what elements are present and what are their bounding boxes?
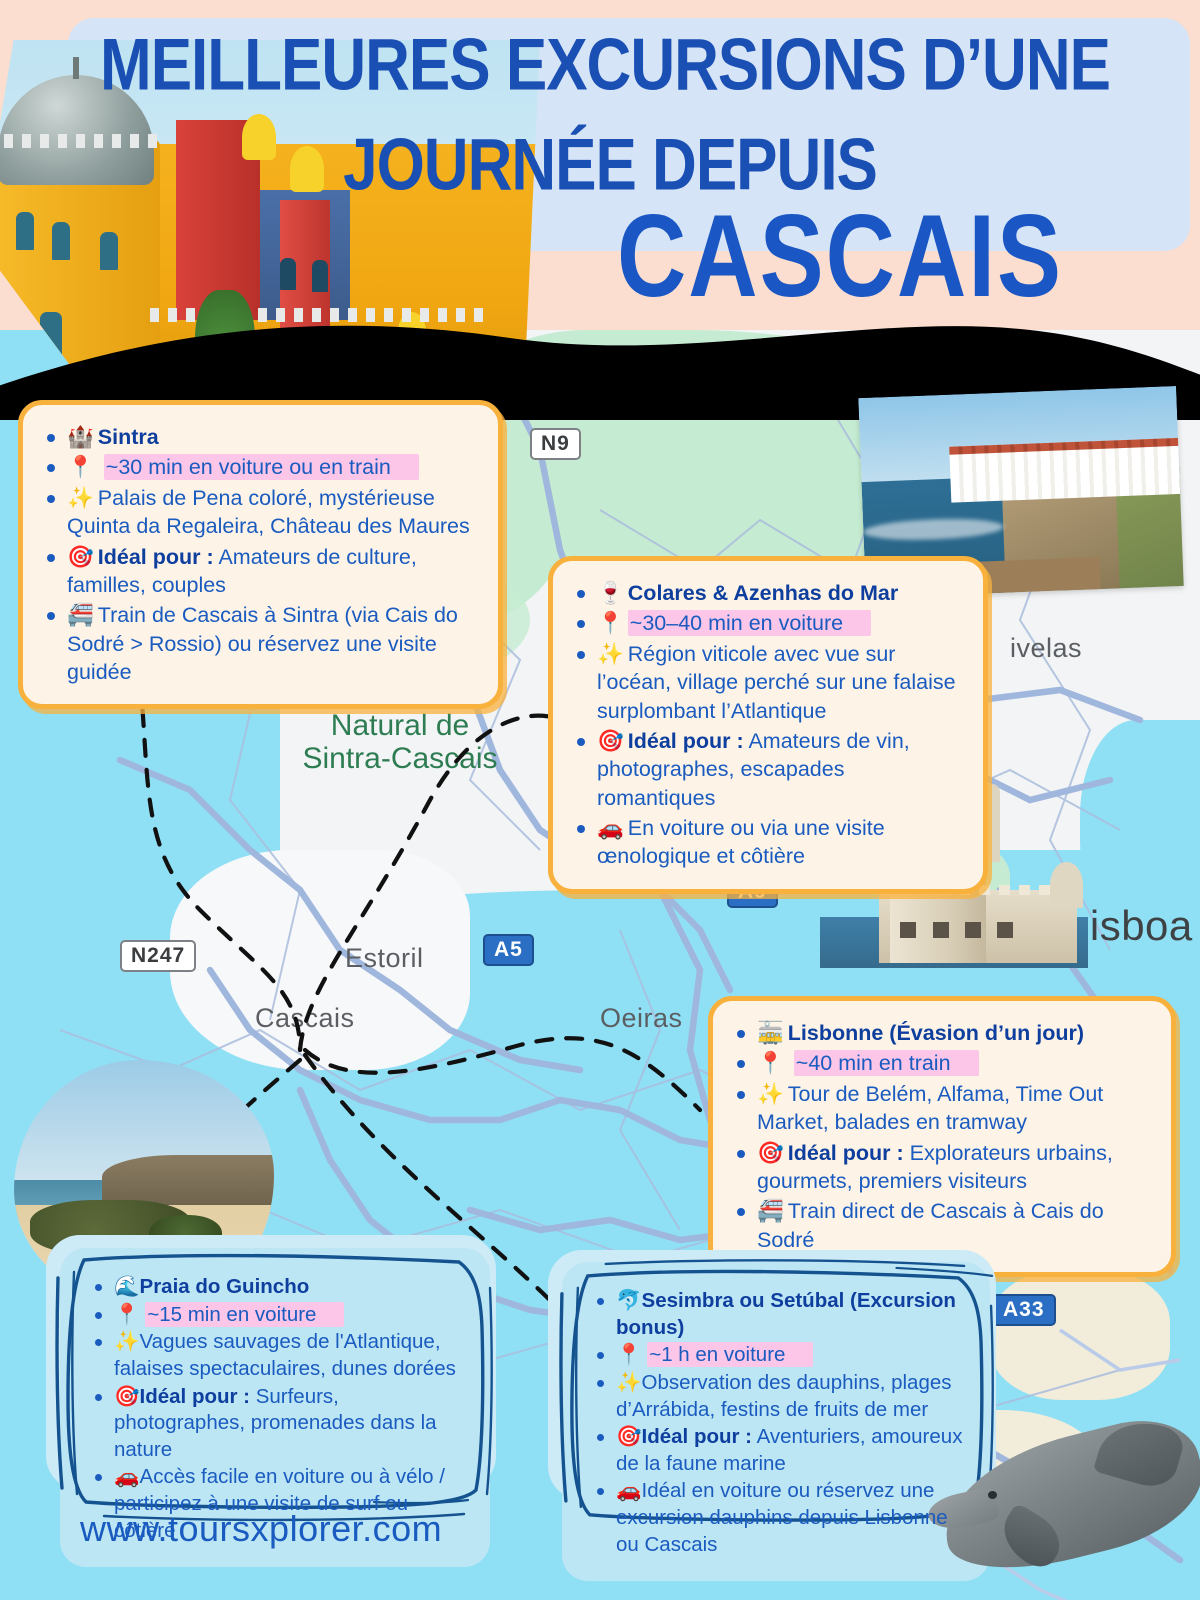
pin-icon: 📍 <box>114 1303 140 1326</box>
car-icon: 🚗 <box>114 1465 140 1488</box>
sparkles-icon: ✨ <box>616 1371 642 1394</box>
car-icon: 🚗 <box>597 816 624 840</box>
car-icon: 🚗 <box>616 1479 642 1502</box>
list-item: 🏰Sintra <box>37 423 478 451</box>
road-shield-n9: N9 <box>530 428 581 460</box>
card-sintra[interactable]: 🏰Sintra 📍 ~30 min en voiture ou en train… <box>18 400 503 709</box>
list-item: 📍 ~40 min en train <box>727 1049 1151 1077</box>
list-item: 📍 ~1 h en voiture <box>588 1342 968 1369</box>
wave-icon: 🌊 <box>114 1275 140 1298</box>
list-item: 🎯Idéal pour : Aventuriers, amoureux de l… <box>588 1424 968 1477</box>
infographic-poster: ParqueNatural deSintra-Cascais Estoril C… <box>0 0 1200 1600</box>
card-lisbonne[interactable]: 🚋Lisbonne (Évasion d’un jour) 📍 ~40 min … <box>708 996 1176 1277</box>
card-colares-azenhas[interactable]: 🍷Colares & Azenhas do Mar 📍~30–40 min en… <box>548 556 988 894</box>
wine-glass-icon: 🍷 <box>597 581 624 605</box>
poster-header: MEILLEURES EXCURSIONS D’UNE JOURNÉE DEPU… <box>0 0 1200 400</box>
card-sintra-list: 🏰Sintra 📍 ~30 min en voiture ou en train… <box>37 423 478 686</box>
list-item: 🎯Idéal pour : Explorateurs urbains, gour… <box>727 1139 1151 1196</box>
list-item: 🌊Praia do Guincho <box>86 1274 468 1301</box>
road-shield-n247: N247 <box>120 940 196 972</box>
map-label-cascais: Cascais <box>255 1003 355 1034</box>
sparkles-icon: ✨ <box>757 1082 784 1106</box>
page-title-line-1: MEILLEURES EXCURSIONS D’UNE <box>60 24 1150 108</box>
list-item: 🚝Train de Cascais à Sintra (via Cais do … <box>37 601 478 686</box>
castle-icon: 🏰 <box>67 425 94 449</box>
list-item: ✨Palais de Pena coloré, mystérieuse Quin… <box>37 484 478 541</box>
list-item: ✨Région viticole avec vue sur l’océan, v… <box>567 640 963 725</box>
list-item: 🍷Colares & Azenhas do Mar <box>567 579 963 607</box>
train-icon: 🚝 <box>67 603 94 627</box>
card-sesimbra[interactable]: 🐬Sesimbra ou Setúbal (Excursion bonus) 📍… <box>562 1262 990 1581</box>
card-colares-list: 🍷Colares & Azenhas do Mar 📍~30–40 min en… <box>567 579 963 871</box>
pin-icon: 📍 <box>616 1343 642 1366</box>
map-label-ivelas: ivelas <box>1010 633 1082 664</box>
target-icon: 🎯 <box>616 1425 642 1448</box>
list-item: 🐬Sesimbra ou Setúbal (Excursion bonus) <box>588 1288 968 1341</box>
road-shield-a5: A5 <box>483 934 534 966</box>
target-icon: 🎯 <box>67 545 94 569</box>
list-item: 🚋Lisbonne (Évasion d’un jour) <box>727 1019 1151 1047</box>
list-item: 📍~30–40 min en voiture <box>567 609 963 637</box>
pin-icon: 📍 <box>597 611 624 635</box>
pin-icon: 📍 <box>67 455 94 479</box>
list-item: 🎯Idéal pour : Amateurs de vin, photograp… <box>567 727 963 812</box>
list-item: 📍 ~15 min en voiture <box>86 1302 468 1329</box>
list-item: 🚗En voiture ou via une visite œnologique… <box>567 814 963 871</box>
target-icon: 🎯 <box>597 729 624 753</box>
card-lisbonne-list: 🚋Lisbonne (Évasion d’un jour) 📍 ~40 min … <box>727 1019 1151 1254</box>
list-item: 🚝Train direct de Cascais à Cais do Sodré <box>727 1197 1151 1254</box>
dolphin-icon: 🐬 <box>616 1289 642 1312</box>
card-guincho-list: 🌊Praia do Guincho 📍 ~15 min en voiture ✨… <box>86 1274 468 1544</box>
road-shield-a33: A33 <box>992 1294 1056 1326</box>
dolphin-photo <box>930 1415 1200 1600</box>
list-item: ✨Tour de Belém, Alfama, Time Out Market,… <box>727 1080 1151 1137</box>
sparkles-icon: ✨ <box>597 642 624 666</box>
list-item: 🚗Accès facile en voiture ou à vélo / par… <box>86 1464 468 1544</box>
pin-icon: 📍 <box>757 1051 784 1075</box>
list-item: 📍 ~30 min en voiture ou en train <box>37 453 478 481</box>
list-item: 🚗Idéal en voiture ou réservez une excurs… <box>588 1478 968 1558</box>
list-item: 🎯Idéal pour : Amateurs de culture, famil… <box>37 543 478 600</box>
train-icon: 🚝 <box>757 1199 784 1223</box>
map-label-estoril: Estoril <box>345 943 424 974</box>
list-item: 🎯Idéal pour : Surfeurs, photographes, pr… <box>86 1384 468 1464</box>
list-item: ✨Vagues sauvages de l'Atlantique, falais… <box>86 1329 468 1382</box>
target-icon: 🎯 <box>757 1141 784 1165</box>
target-icon: 🎯 <box>114 1385 140 1408</box>
tram-icon: 🚋 <box>757 1021 784 1045</box>
map-label-oeiras: Oeiras <box>600 1003 683 1034</box>
card-guincho[interactable]: 🌊Praia do Guincho 📍 ~15 min en voiture ✨… <box>60 1248 490 1567</box>
card-sesimbra-list: 🐬Sesimbra ou Setúbal (Excursion bonus) 📍… <box>588 1288 968 1558</box>
list-item: ✨Observation des dauphins, plages d’Arrá… <box>588 1370 968 1423</box>
sparkles-icon: ✨ <box>114 1330 140 1353</box>
sparkles-icon: ✨ <box>67 486 94 510</box>
